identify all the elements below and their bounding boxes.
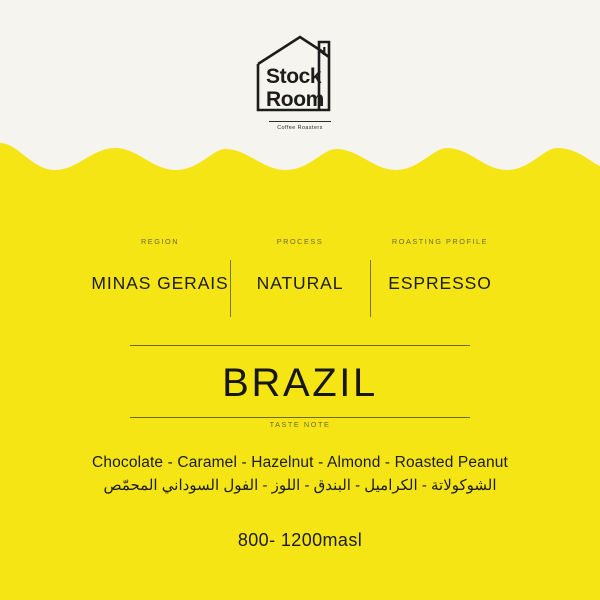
origin-block: BRAZIL xyxy=(130,345,470,418)
coffee-label-card: Stock Room Coffee Roasters REGION MINAS … xyxy=(0,0,600,600)
taste-note-label: TASTE NOTE xyxy=(0,421,600,428)
logo-tagline-rule: Coffee Roasters xyxy=(269,121,331,131)
spec-row: REGION MINAS GERAIS PROCESS NATURAL ROAS… xyxy=(90,238,510,293)
spec-label-process: PROCESS xyxy=(230,238,370,245)
spec-value-process: NATURAL xyxy=(230,275,370,293)
spec-column-region: REGION MINAS GERAIS xyxy=(90,238,230,293)
logo-word-stock: Stock xyxy=(266,66,321,87)
house-logo-icon: Stock Room xyxy=(253,34,347,114)
spec-value-roasting-profile: ESPRESSO xyxy=(370,275,510,293)
spec-label-roasting-profile: ROASTING PROFILE xyxy=(370,238,510,245)
taste-note-english: Chocolate - Caramel - Hazelnut - Almond … xyxy=(0,454,600,471)
logo-tagline: Coffee Roasters xyxy=(269,126,331,131)
taste-note-arabic: الشوكولاتة - الكراميل - البندق - اللوز -… xyxy=(0,477,600,495)
origin-title: BRAZIL xyxy=(130,346,470,417)
spec-column-roasting-profile: ROASTING PROFILE ESPRESSO xyxy=(370,238,510,293)
origin-rule-bottom xyxy=(130,417,470,418)
altitude-value: 800- 1200masl xyxy=(0,531,600,549)
logo-word-room: Room xyxy=(266,89,324,110)
spec-column-process: PROCESS NATURAL xyxy=(230,238,370,293)
brand-logo: Stock Room Coffee Roasters xyxy=(0,34,600,131)
spec-label-region: REGION xyxy=(90,238,230,245)
spec-value-region: MINAS GERAIS xyxy=(90,275,230,293)
